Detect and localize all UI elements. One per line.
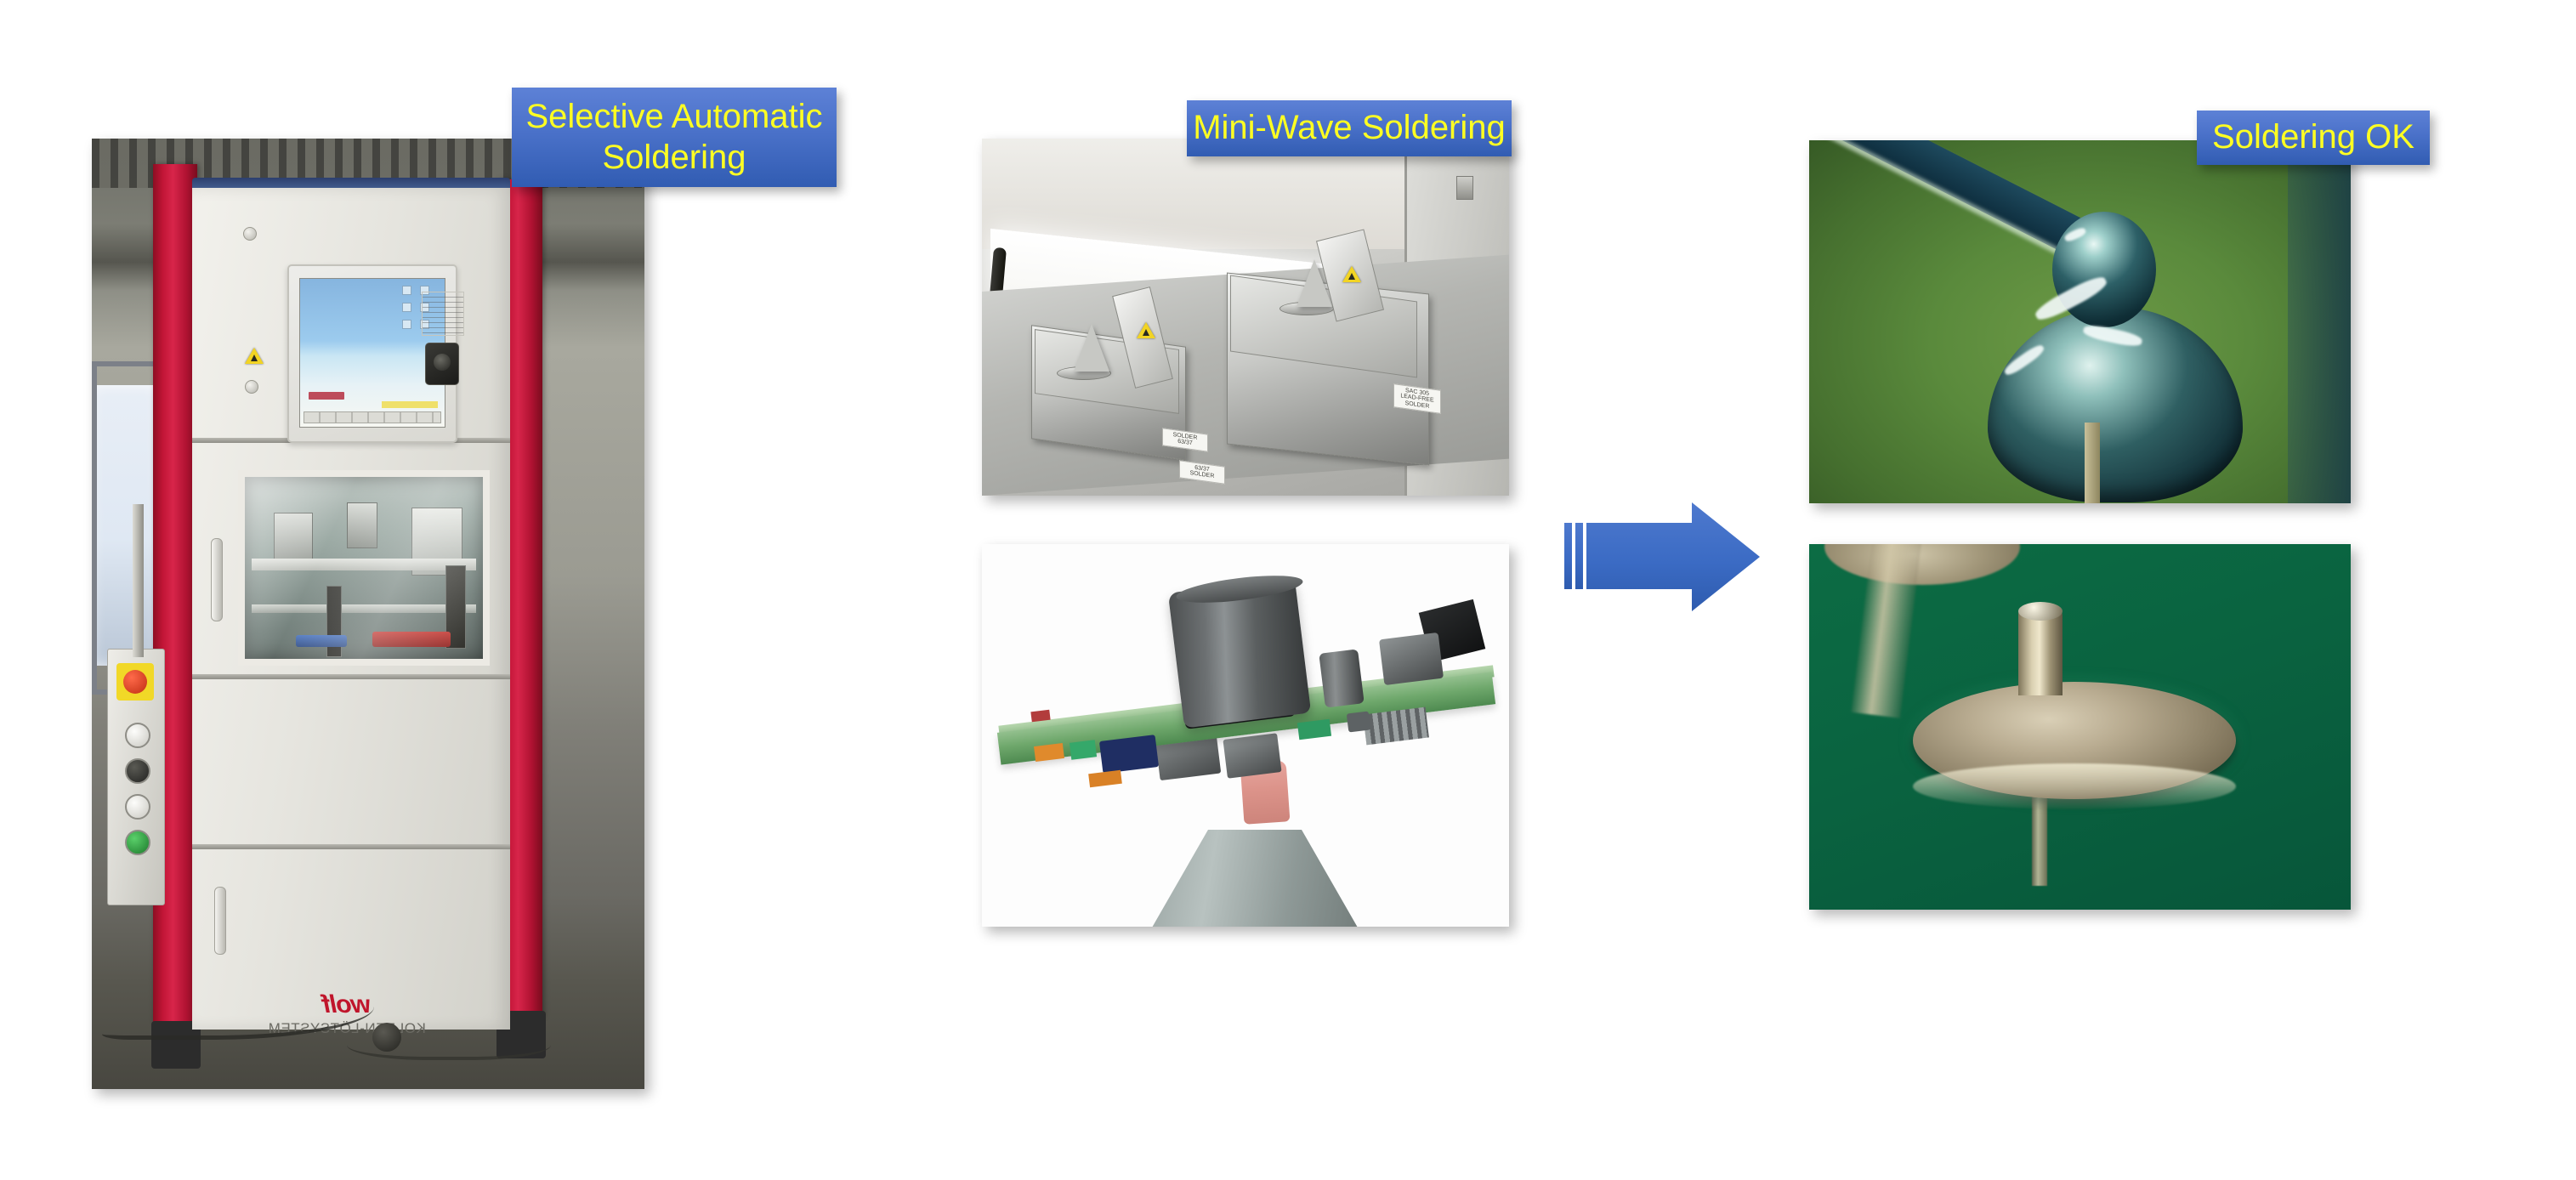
pcb-board-edge (2288, 140, 2351, 503)
label-mini-wave-soldering: Mini-Wave Soldering (1187, 100, 1512, 156)
hmi-status-strip (382, 401, 438, 408)
pcb-render-image[interactable] (982, 544, 1509, 927)
solder-joint-matte-inner (1809, 544, 2351, 910)
cabinet-seam-lower (192, 844, 510, 849)
control-box-pole (133, 504, 144, 657)
window-glass-reflection (245, 477, 483, 659)
machine-photo[interactable]: wolf KOLBEN-LÖTSYSTEM (92, 139, 644, 1089)
emergency-stop-plate (116, 663, 154, 701)
process-flow-arrow (1564, 502, 1760, 611)
hmi-button-bar[interactable] (304, 411, 441, 423)
component-pin (2085, 423, 2100, 503)
cabinet-seam-middle (192, 674, 510, 679)
slide-canvas: wolf KOLBEN-LÖTSYSTEM (0, 0, 2576, 1180)
mini-wave-nozzle-left (1074, 324, 1109, 372)
solder-pad-rim-highlight (1913, 763, 2236, 809)
control-button[interactable] (125, 758, 150, 784)
hmi-vendor-logo (309, 392, 344, 400)
operator-control-box[interactable] (107, 649, 165, 905)
cabinet-door-handle[interactable] (211, 538, 223, 621)
hazard-triangle-icon (1137, 322, 1155, 338)
metal-connector (1379, 633, 1444, 685)
solder-dome (2052, 212, 2156, 327)
component-pin (2018, 609, 2063, 695)
cabinet-door-handle-lower[interactable] (214, 887, 226, 955)
hazard-triangle-icon (1342, 266, 1361, 282)
arrow-icon (1564, 502, 1760, 611)
label-soldering-ok: Soldering OK (2197, 111, 2430, 165)
machine-type-plate (422, 292, 464, 336)
control-button[interactable] (125, 723, 150, 748)
machine-viewing-window (238, 470, 490, 666)
control-button[interactable] (125, 794, 150, 820)
component-pin-shadow (2032, 796, 2047, 886)
emergency-stop-icon[interactable] (123, 670, 147, 694)
cabinet-screw (243, 227, 257, 241)
smd-component (1070, 740, 1097, 760)
hazard-triangle-icon (245, 348, 264, 364)
solder-joint-matte-photo[interactable] (1809, 544, 2351, 910)
component-pin-tip (2018, 602, 2063, 621)
bottom-side-component (1223, 733, 1281, 778)
cabinet-screw (245, 380, 258, 394)
solder-pots-photo-inner: SOLDER 63/37 63/37 SOLDER SAC 305 LEAD-F… (982, 139, 1509, 496)
smd-connector (1099, 735, 1159, 774)
hmi-icon (402, 320, 411, 329)
control-button-start[interactable] (125, 830, 150, 855)
hmi-icon (402, 286, 411, 295)
solder-joint-shiny-photo[interactable] (1809, 140, 2351, 503)
hmi-icon (402, 303, 411, 312)
pcb-render-inner (982, 544, 1509, 927)
label-selective-automatic-soldering: Selective Automatic Soldering (512, 88, 837, 187)
machine-photo-inner: wolf KOLBEN-LÖTSYSTEM (92, 139, 644, 1089)
main-rotary-switch[interactable] (425, 343, 459, 385)
solder-joint-shiny-inner (1809, 140, 2351, 503)
small-capacitor (1319, 649, 1364, 707)
machine-leveling-foot (372, 1023, 401, 1052)
door-hinge (1456, 176, 1473, 200)
solder-pots-photo[interactable]: SOLDER 63/37 63/37 SOLDER SAC 305 LEAD-F… (982, 139, 1509, 496)
smd-component (1347, 711, 1370, 732)
